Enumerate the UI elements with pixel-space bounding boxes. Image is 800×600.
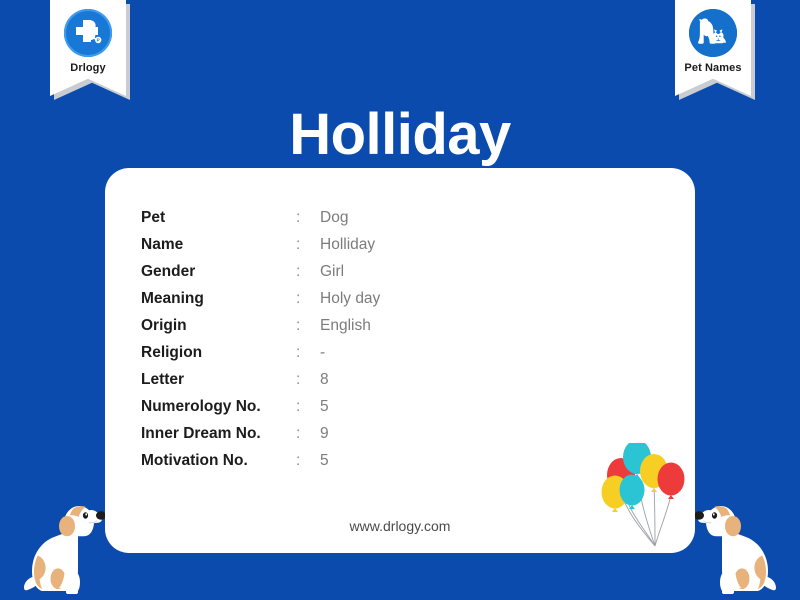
badge-label-pet-names: Pet Names xyxy=(684,62,741,74)
table-row: Meaning : Holy day xyxy=(141,290,380,317)
row-separator: : xyxy=(296,452,320,470)
table-row: Inner Dream No. : 9 xyxy=(141,425,380,452)
dog-and-cat-icon xyxy=(689,9,737,57)
row-label-inner-dream-no: Inner Dream No. xyxy=(141,425,296,443)
row-separator: : xyxy=(296,344,320,362)
table-row: Gender : Girl xyxy=(141,263,380,290)
drlogy-medical-cross-icon: P xyxy=(64,9,112,57)
table-row: Pet : Dog xyxy=(141,209,380,236)
row-separator: : xyxy=(296,398,320,416)
page-title: Holliday xyxy=(0,102,800,169)
table-row: Letter : 8 xyxy=(141,371,380,398)
row-separator: : xyxy=(296,371,320,389)
row-separator: : xyxy=(296,236,320,254)
row-separator: : xyxy=(296,263,320,281)
badge-label-drlogy: Drlogy xyxy=(70,62,105,74)
row-label-gender: Gender xyxy=(141,263,296,281)
brand-badge-drlogy: P Drlogy xyxy=(50,0,126,96)
row-value-numerology-no: 5 xyxy=(320,398,329,416)
row-separator: : xyxy=(296,290,320,308)
row-value-gender: Girl xyxy=(320,263,344,281)
row-separator: : xyxy=(296,317,320,335)
table-row: Origin : English xyxy=(141,317,380,344)
sitting-dog-icon-left xyxy=(22,490,112,600)
row-value-pet: Dog xyxy=(320,209,348,227)
row-value-meaning: Holy day xyxy=(320,290,380,308)
row-label-origin: Origin xyxy=(141,317,296,335)
row-value-inner-dream-no: 9 xyxy=(320,425,329,443)
row-label-meaning: Meaning xyxy=(141,290,296,308)
row-value-letter: 8 xyxy=(320,371,329,389)
sitting-dog-icon-right xyxy=(688,490,778,600)
pet-name-details-card: Pet : Dog Name : Holliday Gender : Girl … xyxy=(105,168,695,553)
balloons-icon xyxy=(599,443,691,553)
row-value-religion: - xyxy=(320,344,325,362)
row-value-motivation-no: 5 xyxy=(320,452,329,470)
row-label-letter: Letter xyxy=(141,371,296,389)
row-label-pet: Pet xyxy=(141,209,296,227)
row-separator: : xyxy=(296,209,320,227)
row-label-motivation-no: Motivation No. xyxy=(141,452,296,470)
row-value-origin: English xyxy=(320,317,371,335)
table-row: Motivation No. : 5 xyxy=(141,452,380,479)
row-label-name: Name xyxy=(141,236,296,254)
table-row: Numerology No. : 5 xyxy=(141,398,380,425)
row-value-name: Holliday xyxy=(320,236,375,254)
svg-text:P: P xyxy=(97,38,100,43)
row-label-numerology-no: Numerology No. xyxy=(141,398,296,416)
table-row: Religion : - xyxy=(141,344,380,371)
table-row: Name : Holliday xyxy=(141,236,380,263)
row-label-religion: Religion xyxy=(141,344,296,362)
row-separator: : xyxy=(296,425,320,443)
pet-detail-table: Pet : Dog Name : Holliday Gender : Girl … xyxy=(141,209,380,479)
brand-badge-pet-names: Pet Names xyxy=(675,0,751,96)
